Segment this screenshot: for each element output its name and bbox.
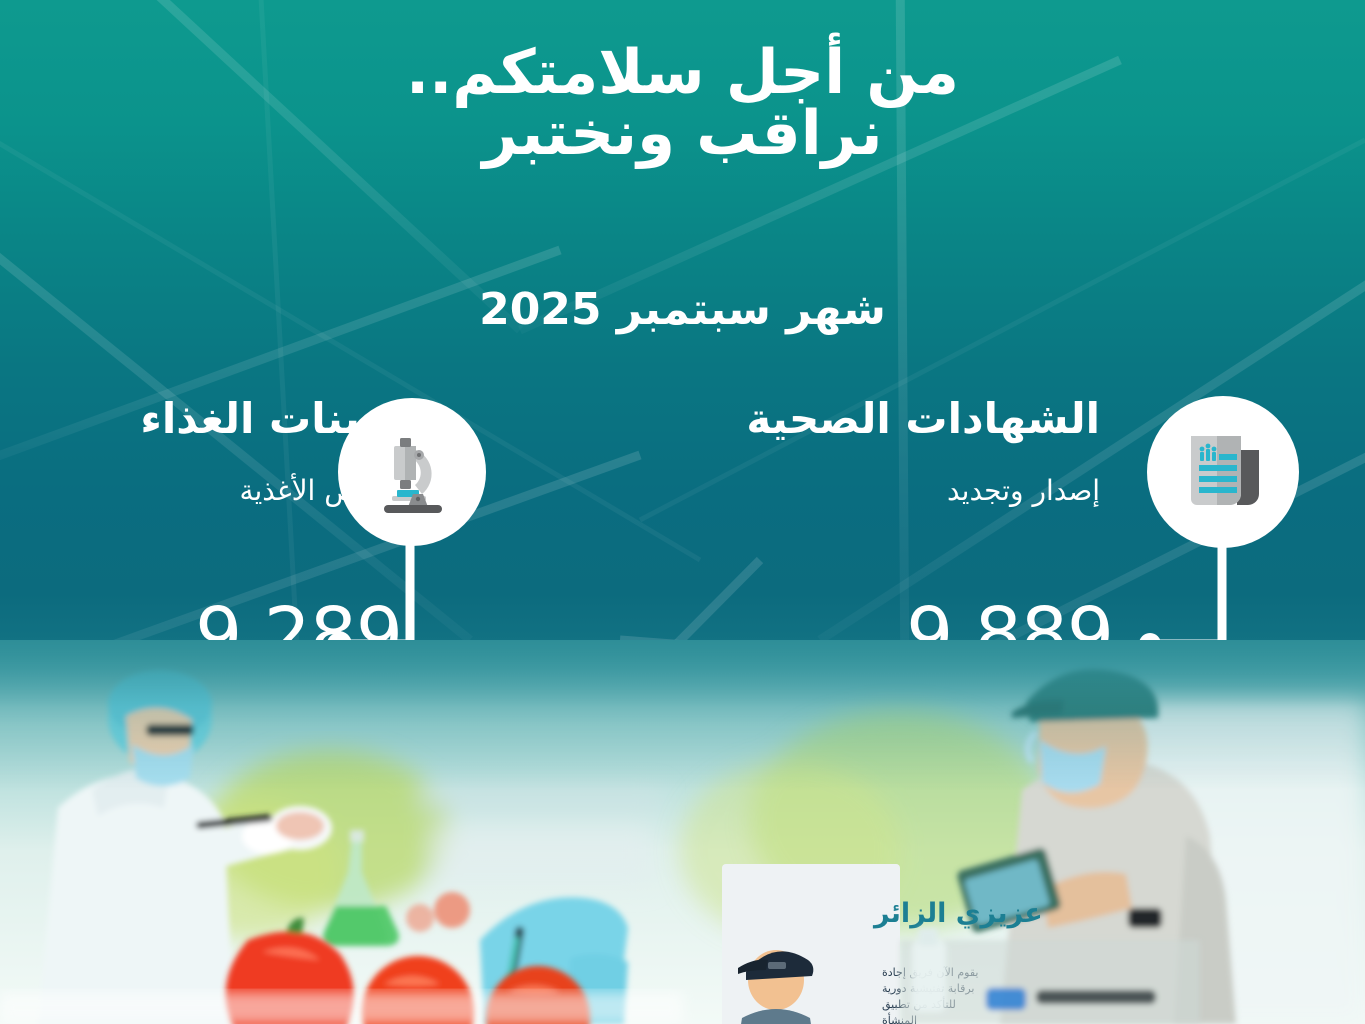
stat-title-health-certificates: الشهادات الصحية <box>746 394 1100 443</box>
stat-health-certificates: الشهادات الصحية إصدار وتجديد 9,889 <box>690 380 1350 680</box>
stat-food-samples: عينات الغذاء فحص الأغذية 9,289 <box>20 380 660 680</box>
headline-line-1: من أجل سلامتكم.. <box>0 42 1365 105</box>
photo-band: عزيزي الزائر يقوم الآن فريق إجادة برقابة… <box>0 640 1365 1024</box>
headline-line-2: نراقب ونختبر <box>0 103 1365 166</box>
headline: من أجل سلامتكم.. نراقب ونختبر <box>0 42 1365 166</box>
svg-text:عزيزي الزائر: عزيزي الزائر <box>872 898 1043 929</box>
infographic-canvas: من أجل سلامتكم.. نراقب ونختبر شهر سبتمبر… <box>0 0 1365 1024</box>
stat-subtitle-health-certificates: إصدار وتجديد <box>947 474 1100 507</box>
microscope-icon <box>364 424 460 520</box>
certificate-icon <box>1175 424 1271 520</box>
badge-health-certificates <box>1147 396 1299 548</box>
badge-food-samples <box>338 398 486 546</box>
period-label: شهر سبتمبر 2025 <box>0 284 1365 335</box>
